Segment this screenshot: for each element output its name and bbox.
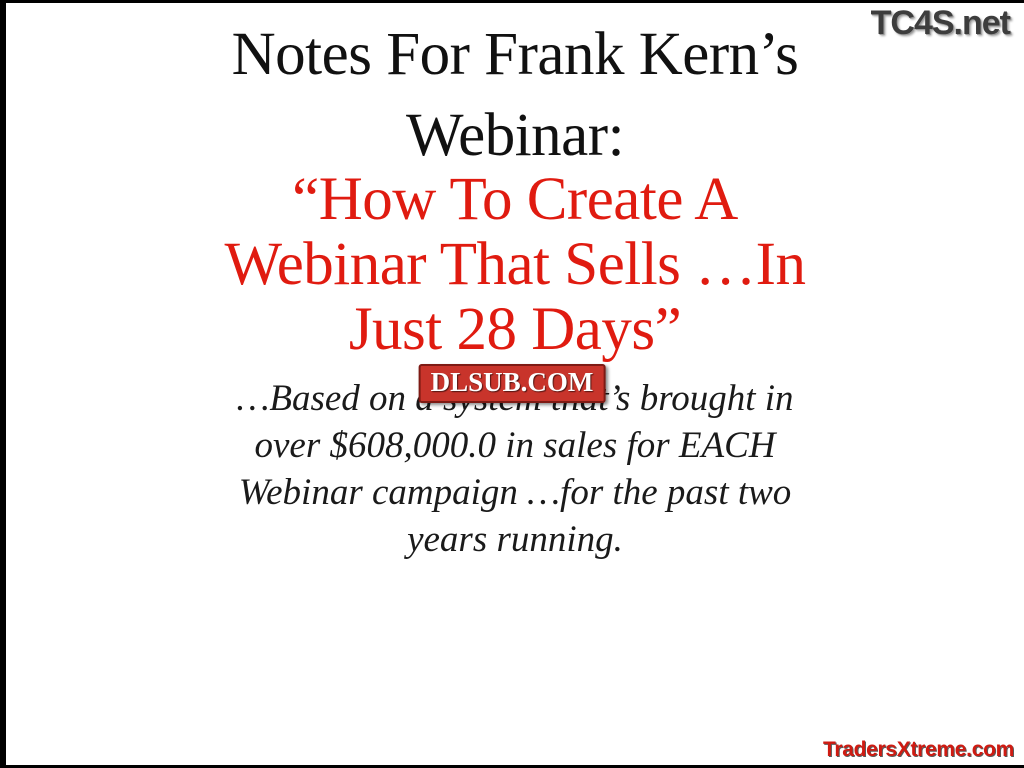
subtitle-line-3: Webinar campaign …for the past two [6, 470, 1024, 517]
watermark-dlsub: DLSUB.COM [419, 364, 606, 403]
slide-title-line-2: Webinar: [6, 84, 1024, 165]
headline-line-3: Just 28 Days” [6, 295, 1024, 360]
slide-canvas: Notes For Frank Kern’s Webinar: “How To … [0, 0, 1024, 768]
headline-line-1: “How To Create A [6, 165, 1024, 230]
subtitle-line-2: over $608,000.0 in sales for EACH [6, 423, 1024, 470]
subtitle-line-4: years running. [6, 517, 1024, 564]
watermark-tc4s: TC4S.net [871, 4, 1010, 43]
headline-line-2: Webinar That Sells …In [6, 230, 1024, 295]
watermark-tradersxtreme: TradersXtreme.com [823, 738, 1014, 762]
